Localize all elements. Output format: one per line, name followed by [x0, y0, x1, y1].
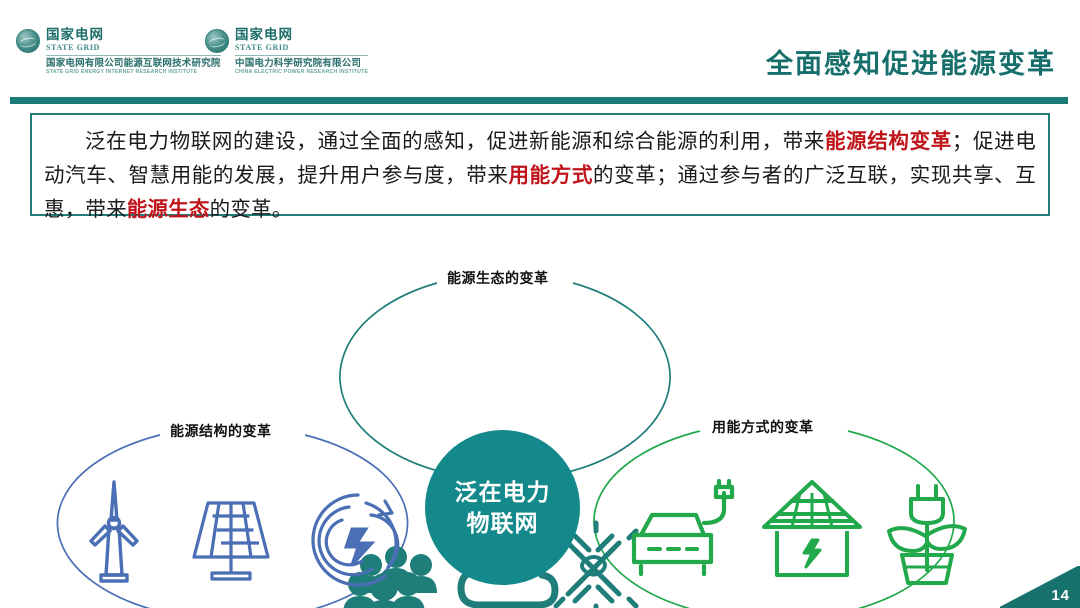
logo-institute-cn: 国家电网有限公司能源互联网技术研究院: [46, 58, 221, 69]
state-grid-globe-icon: [16, 29, 40, 53]
logo-name-en: STATE GRID: [235, 42, 368, 53]
logo-institute-en: CHINA ELECTRIC POWER RESEARCH INSTITUTE: [235, 69, 368, 76]
state-grid-globe-icon: [205, 29, 229, 53]
logo-text-group: 国家电网 STATE GRID 国家电网有限公司能源互联网技术研究院 STATE…: [46, 28, 221, 76]
logo-name-en: STATE GRID: [46, 42, 221, 53]
logo-institute-en: STATE GRID ENERGY INTERNET RESEARCH INST…: [46, 69, 221, 76]
logo-state-grid-eiri: 国家电网 STATE GRID 国家电网有限公司能源互联网技术研究院 STATE…: [16, 28, 221, 76]
hub-line-2: 物联网: [467, 508, 539, 539]
highlight-term: 能源结构变革: [825, 129, 952, 153]
logo-divider: [46, 55, 221, 56]
ellipse-label-left: 能源结构的变革: [170, 421, 272, 441]
venn-diagram: 能源生态的变革 能源结构的变革 用能方式的变革 泛在电力 物联网: [0, 235, 1080, 608]
logo-text-group: 国家电网 STATE GRID 中国电力科学研究院有限公司 CHINA ELEC…: [235, 28, 368, 76]
page-title: 全面感知促进能源变革: [766, 42, 1056, 81]
highlight-term: 用能方式: [509, 163, 593, 187]
slide-header: 国家电网 STATE GRID 国家电网有限公司能源互联网技术研究院 STATE…: [0, 0, 1080, 96]
header-rule: [10, 97, 1068, 104]
electric-car-icon: [634, 481, 732, 574]
slide: 国家电网 STATE GRID 国家电网有限公司能源互联网技术研究院 STATE…: [0, 0, 1080, 608]
body-text-run: 的变革。: [210, 197, 293, 221]
center-hub: 泛在电力 物联网: [425, 430, 580, 585]
ellipse-label-right: 用能方式的变革: [712, 417, 814, 437]
logo-name-cn: 国家电网: [235, 28, 368, 42]
solar-panel-icon: [194, 503, 268, 579]
logo-divider: [235, 55, 368, 56]
hub-line-1: 泛在电力: [455, 477, 551, 508]
logo-name-cn: 国家电网: [46, 28, 221, 42]
summary-paragraph: 泛在电力物联网的建设，通过全面的感知，促进新能源和综合能源的利用，带来能源结构变…: [44, 124, 1036, 226]
page-number: 14: [1051, 587, 1070, 604]
solar-house-icon: [764, 482, 860, 575]
ellipse-label-top: 能源生态的变革: [447, 268, 549, 288]
logo-institute-cn: 中国电力科学研究院有限公司: [235, 58, 368, 69]
logo-cepri: 国家电网 STATE GRID 中国电力科学研究院有限公司 CHINA ELEC…: [205, 28, 368, 76]
highlight-term: 能源生态: [127, 197, 210, 221]
body-text-run: 泛在电力物联网的建设，通过全面的感知，促进新能源和综合能源的利用，带来: [85, 129, 825, 153]
summary-textbox: 泛在电力物联网的建设，通过全面的感知，促进新能源和综合能源的利用，带来能源结构变…: [30, 113, 1050, 216]
plant-plug-icon: [889, 486, 965, 583]
wind-turbine-icon: [91, 482, 137, 581]
